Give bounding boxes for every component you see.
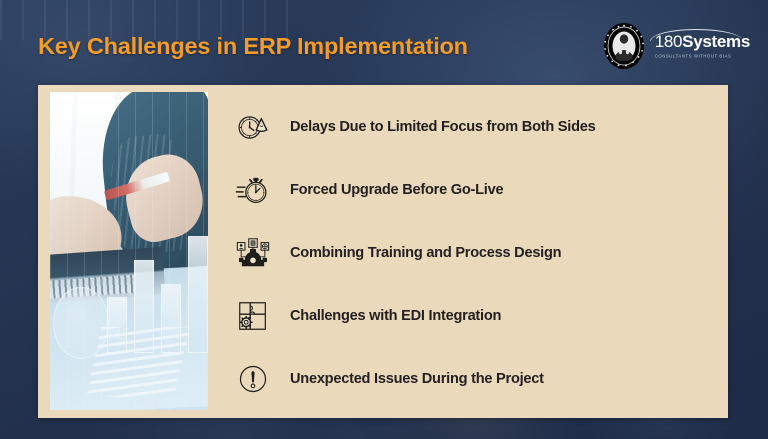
- hero-photo: [50, 92, 208, 410]
- list-item: Challenges with EDI Integration: [234, 293, 718, 339]
- process-gear-icon: [234, 234, 272, 272]
- list-item-label: Delays Due to Limited Focus from Both Si…: [290, 119, 596, 135]
- list-item: Forced Upgrade Before Go-Live: [234, 167, 718, 213]
- list-item: Delays Due to Limited Focus from Both Si…: [234, 104, 718, 150]
- brand-logo: 180Systems CONSULTANTS WITHOUT BIAS: [602, 22, 750, 70]
- brand-name: 180Systems: [655, 33, 750, 50]
- content-panel: Delays Due to Limited Focus from Both Si…: [38, 85, 728, 418]
- list-item-label: Forced Upgrade Before Go-Live: [290, 182, 503, 198]
- puzzle-gear-icon: [234, 297, 272, 335]
- list-item-label: Combining Training and Process Design: [290, 245, 561, 261]
- list-item-label: Unexpected Issues During the Project: [290, 371, 544, 387]
- 180-systems-seal-icon: [602, 22, 646, 70]
- stopwatch-icon: [234, 171, 272, 209]
- list-item-label: Challenges with EDI Integration: [290, 308, 501, 324]
- brand-wordmark: 180Systems CONSULTANTS WITHOUT BIAS: [655, 33, 750, 58]
- photo-blue-tint: [50, 92, 208, 410]
- slide-canvas: Key Challenges in ERP Implementation: [0, 0, 768, 439]
- photo-scene: [50, 92, 208, 410]
- clock-funnel-icon: [234, 108, 272, 146]
- brand-tagline: CONSULTANTS WITHOUT BIAS: [655, 54, 732, 59]
- brand-swoosh-icon: [650, 29, 743, 41]
- page-title: Key Challenges in ERP Implementation: [38, 33, 468, 60]
- challenge-list: Delays Due to Limited Focus from Both Si…: [234, 95, 718, 410]
- slide-header: Key Challenges in ERP Implementation: [0, 0, 768, 85]
- exclamation-circle-icon: [234, 360, 272, 398]
- list-item: Combining Training and Process Design: [234, 230, 718, 276]
- list-item: Unexpected Issues During the Project: [234, 356, 718, 402]
